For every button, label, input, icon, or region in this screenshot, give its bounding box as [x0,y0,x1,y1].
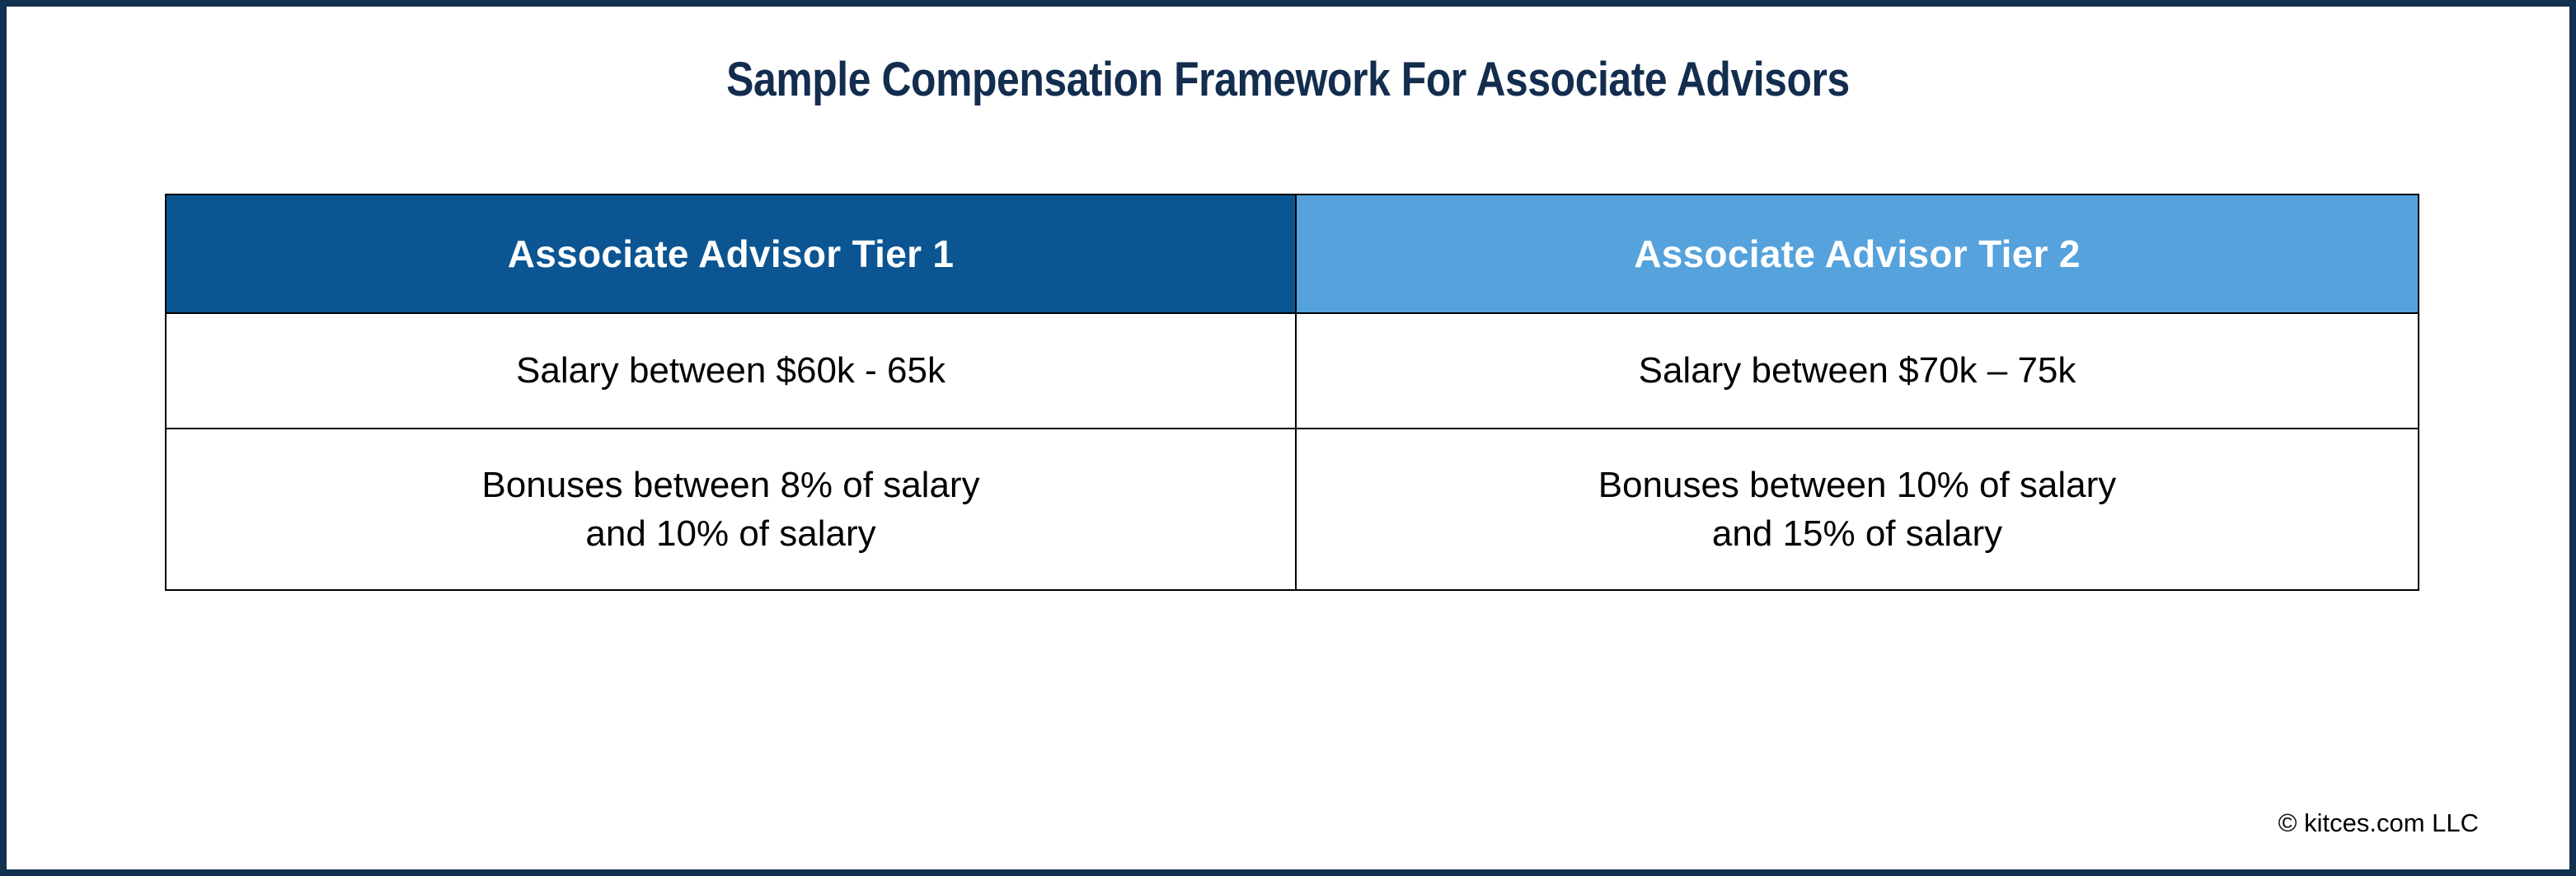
cell-text-line: Salary between $70k – 75k [1297,346,2418,395]
compensation-framework-graphic: Sample Compensation Framework For Associ… [0,0,2576,876]
cell-text-line: and 15% of salary [1297,509,2418,558]
cell-tier1-bonus: Bonuses between 8% of salary and 10% of … [166,429,1296,590]
cell-text-line: Bonuses between 10% of salary [1297,461,2418,509]
cell-text-line: Salary between $60k - 65k [167,346,1295,395]
page-title: Sample Compensation Framework For Associ… [186,52,2391,107]
cell-tier2-salary: Salary between $70k – 75k [1296,313,2419,429]
column-header-tier-2: Associate Advisor Tier 2 [1296,194,2419,313]
cell-tier1-salary: Salary between $60k - 65k [166,313,1296,429]
column-header-tier-1: Associate Advisor Tier 1 [166,194,1296,313]
cell-text-line: Bonuses between 8% of salary [167,461,1295,509]
cell-text-line: and 10% of salary [167,509,1295,558]
table-header-row: Associate Advisor Tier 1 Associate Advis… [166,194,2419,313]
copyright-notice: © kitces.com LLC [2278,808,2479,838]
table-row-salary: Salary between $60k - 65k Salary between… [166,313,2419,429]
table-row-bonus: Bonuses between 8% of salary and 10% of … [166,429,2419,590]
compensation-table: Associate Advisor Tier 1 Associate Advis… [165,194,2419,591]
cell-tier2-bonus: Bonuses between 10% of salary and 15% of… [1296,429,2419,590]
